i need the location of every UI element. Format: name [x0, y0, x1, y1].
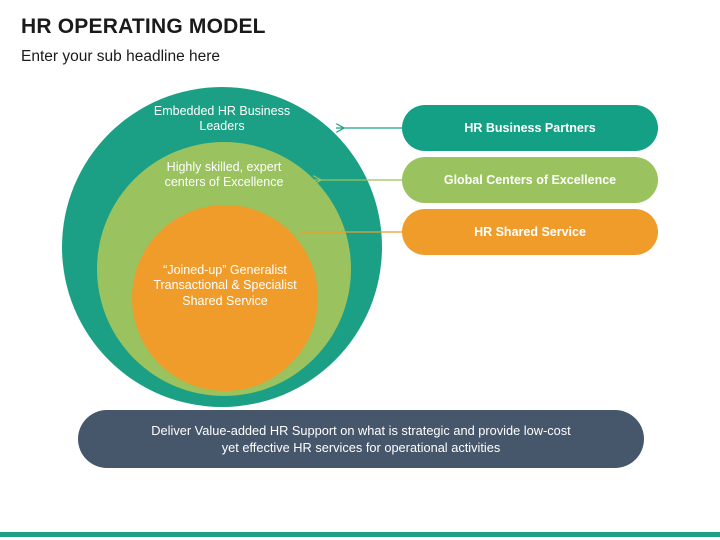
circle-outer-line-1: Embedded HR Business: [122, 104, 322, 119]
circle-middle-line-2: centers of Excellence: [129, 175, 319, 190]
footer-banner-text: Deliver Value-added HR Support on what i…: [151, 422, 570, 457]
circle-middle-label: Highly skilled, expert centers of Excell…: [129, 160, 319, 191]
circle-inner-label: “Joined-up” Generalist Transactional & S…: [137, 263, 313, 309]
footer-summary-banner[interactable]: Deliver Value-added HR Support on what i…: [78, 410, 644, 468]
pill-hr-business-partners[interactable]: HR Business Partners: [402, 105, 658, 151]
page-subtitle: Enter your sub headline here: [21, 48, 220, 66]
circle-middle-line-1: Highly skilled, expert: [129, 160, 319, 175]
nested-circles-diagram: Embedded HR Business Leaders Highly skil…: [62, 87, 382, 407]
page-title: HR OPERATING MODEL: [21, 15, 266, 39]
pill-global-centers-of-excellence-label: Global Centers of Excellence: [444, 173, 616, 187]
pill-hr-shared-service[interactable]: HR Shared Service: [402, 209, 658, 255]
footer-banner-line-1: Deliver Value-added HR Support on what i…: [151, 422, 570, 439]
bottom-accent-bar: [0, 532, 720, 537]
circle-outer-line-2: Leaders: [122, 119, 322, 134]
pill-global-centers-of-excellence[interactable]: Global Centers of Excellence: [402, 157, 658, 203]
circle-inner-line-3: Shared Service: [137, 294, 313, 309]
circle-outer-label: Embedded HR Business Leaders: [122, 104, 322, 135]
circle-inner-line-2: Transactional & Specialist: [137, 278, 313, 293]
footer-banner-line-2: yet effective HR services for operationa…: [151, 439, 570, 456]
circle-joined-up-generalist-shared-service[interactable]: “Joined-up” Generalist Transactional & S…: [132, 205, 318, 391]
pill-hr-business-partners-label: HR Business Partners: [464, 121, 595, 135]
pill-hr-shared-service-label: HR Shared Service: [474, 225, 586, 239]
circle-inner-line-1: “Joined-up” Generalist: [137, 263, 313, 278]
